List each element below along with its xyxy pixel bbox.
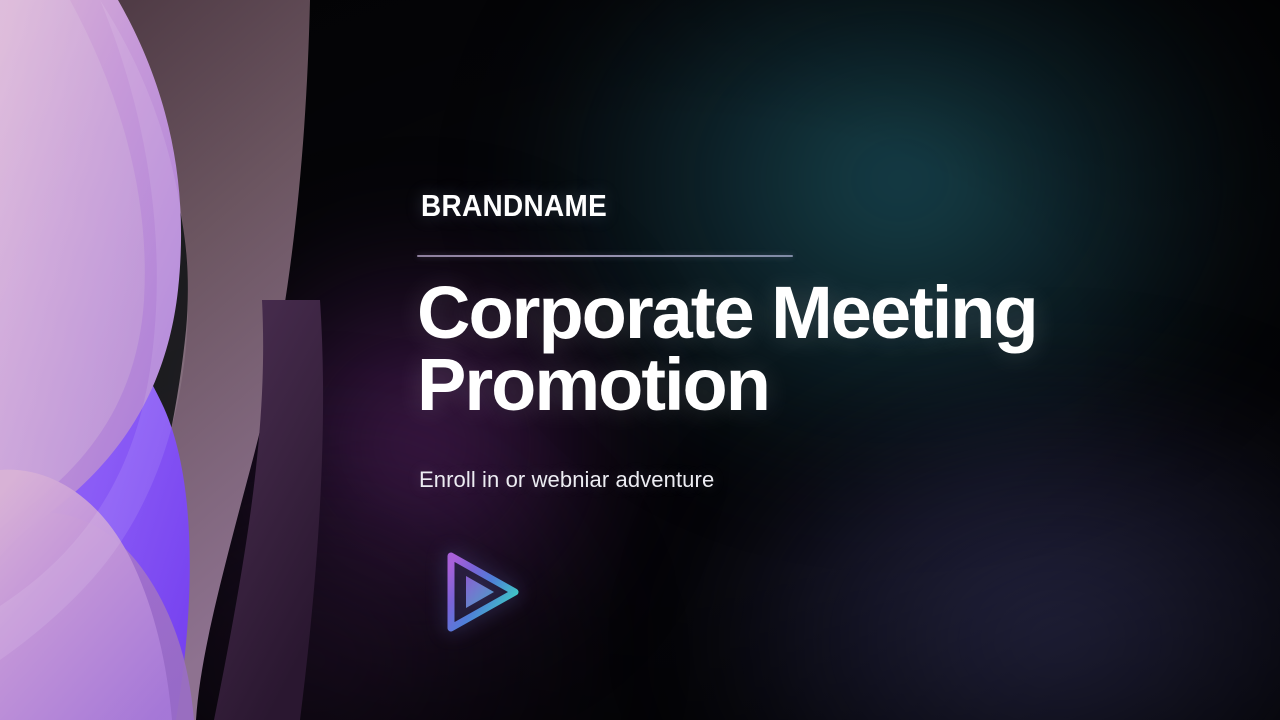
content-column: BRANDNAME Corporate Meeting Promotion En… <box>417 0 1207 720</box>
headline-line-1: Corporate Meeting <box>417 277 1197 349</box>
subtitle: Enroll in or webniar adventure <box>419 467 714 493</box>
title-divider <box>417 255 793 257</box>
brand-name: BRANDNAME <box>421 190 607 221</box>
play-button[interactable] <box>431 542 531 642</box>
headline-line-2: Promotion <box>417 349 1197 421</box>
page-title: Corporate Meeting Promotion <box>417 277 1197 421</box>
decorative-ribbon-artwork <box>0 0 330 720</box>
promo-slide: BRANDNAME Corporate Meeting Promotion En… <box>0 0 1280 720</box>
play-triangle-icon <box>431 542 531 642</box>
